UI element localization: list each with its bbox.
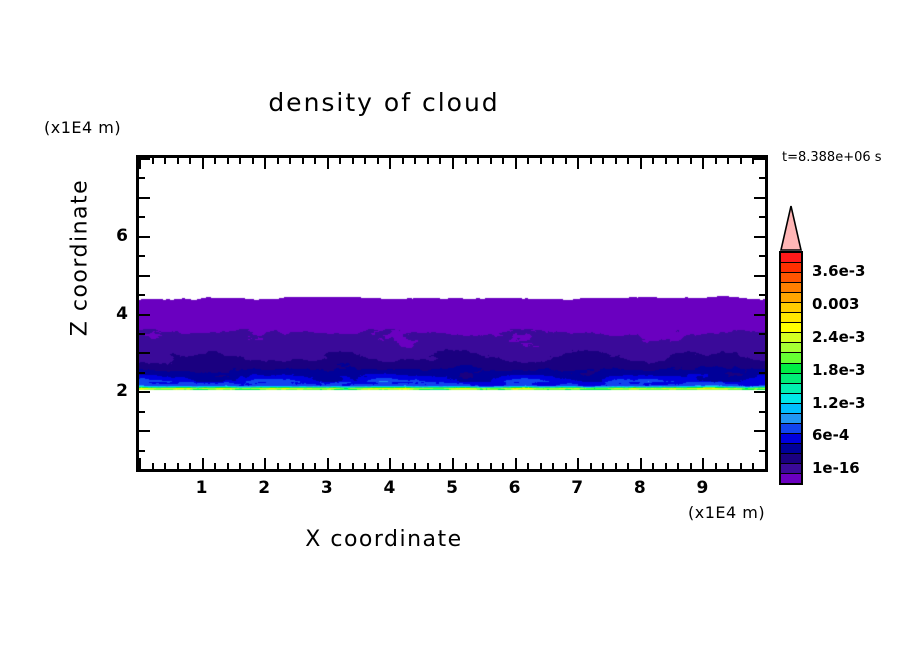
tick-mark [139, 216, 145, 218]
colorbar-band [781, 454, 801, 464]
colorbar-band [781, 283, 801, 293]
tick-mark [139, 255, 145, 257]
tick-mark [690, 463, 692, 469]
colorbar-band [781, 273, 801, 283]
tick-mark [754, 352, 765, 354]
colorbar-bands [779, 251, 803, 485]
tick-mark [677, 158, 679, 164]
tick-mark [202, 458, 204, 469]
y-axis-title: Z coordinate [68, 158, 93, 358]
tick-mark [665, 463, 667, 469]
colorbar-band [781, 464, 801, 474]
tick-mark [202, 158, 204, 169]
tick-mark [164, 158, 166, 164]
tick-mark [352, 463, 354, 469]
tick-mark [727, 158, 729, 164]
colorbar-tick-label: 3.6e-3 [812, 262, 865, 280]
tick-mark [402, 463, 404, 469]
tick-mark [527, 158, 529, 164]
tick-mark [139, 430, 150, 432]
tick-mark [652, 158, 654, 164]
tick-mark [402, 158, 404, 164]
colorbar-tick-label: 1.2e-3 [812, 394, 865, 412]
x-tick-label: 2 [258, 478, 270, 498]
tick-mark [754, 158, 765, 160]
tick-mark [754, 469, 765, 471]
colorbar-band [781, 353, 801, 363]
colorbar-tick-label: 2.4e-3 [812, 328, 865, 346]
tick-mark [289, 158, 291, 164]
tick-mark [389, 158, 391, 169]
colorbar-band [781, 394, 801, 404]
y-tick-label: 2 [110, 381, 128, 401]
tick-mark [640, 158, 642, 169]
tick-mark [339, 463, 341, 469]
tick-mark [759, 216, 765, 218]
tick-mark [264, 158, 266, 169]
tick-mark [352, 158, 354, 164]
tick-mark [552, 158, 554, 164]
tick-mark [189, 463, 191, 469]
tick-mark [227, 463, 229, 469]
tick-mark [627, 463, 629, 469]
tick-mark [759, 411, 765, 413]
tick-mark [577, 158, 579, 169]
tick-mark [552, 463, 554, 469]
tick-mark [765, 458, 767, 469]
tick-mark [139, 458, 141, 469]
tick-mark [740, 463, 742, 469]
tick-mark [754, 197, 765, 199]
colorbar-band [781, 424, 801, 434]
tick-mark [277, 158, 279, 164]
colorbar-band [781, 253, 801, 263]
tick-mark [189, 158, 191, 164]
x-axis-unit-label: (x1E4 m) [688, 503, 765, 522]
tick-mark [252, 158, 254, 164]
tick-mark [452, 158, 454, 169]
tick-mark [702, 158, 704, 169]
x-tick-label: 4 [383, 478, 395, 498]
tick-mark [239, 158, 241, 164]
tick-mark [759, 450, 765, 452]
tick-mark [252, 463, 254, 469]
tick-mark [177, 158, 179, 164]
tick-mark [139, 236, 150, 238]
y-tick-label: 4 [110, 304, 128, 324]
colorbar-band [781, 263, 801, 273]
tick-mark [452, 458, 454, 469]
colorbar-band [781, 414, 801, 424]
tick-mark [477, 463, 479, 469]
colorbar-band [781, 374, 801, 384]
tick-mark [139, 411, 145, 413]
tick-mark [327, 158, 329, 169]
tick-mark [759, 177, 765, 179]
colorbar-band [781, 303, 801, 313]
tick-mark [465, 463, 467, 469]
tick-mark [327, 458, 329, 469]
tick-mark [364, 158, 366, 164]
tick-mark [139, 197, 150, 199]
tick-mark [389, 458, 391, 469]
tick-mark [715, 463, 717, 469]
tick-mark [314, 158, 316, 164]
tick-mark [754, 275, 765, 277]
tick-mark [502, 158, 504, 164]
tick-mark [364, 463, 366, 469]
tick-mark [177, 463, 179, 469]
tick-mark [602, 463, 604, 469]
tick-mark [427, 463, 429, 469]
tick-mark [465, 158, 467, 164]
tick-mark [759, 372, 765, 374]
colorbar-band [781, 474, 801, 483]
plot-frame [136, 155, 768, 472]
tick-mark [477, 158, 479, 164]
tick-mark [615, 158, 617, 164]
x-tick-label: 9 [696, 478, 708, 498]
tick-mark [277, 463, 279, 469]
tick-mark [515, 458, 517, 469]
tick-mark [139, 450, 145, 452]
colorbar-tick-label: 6e-4 [812, 426, 849, 444]
colorbar-tick-label: 1e-16 [812, 459, 860, 477]
tick-mark [239, 463, 241, 469]
tick-mark [740, 158, 742, 164]
tick-mark [515, 158, 517, 169]
tick-mark [227, 158, 229, 164]
tick-mark [490, 463, 492, 469]
x-axis-title: X coordinate [0, 527, 768, 552]
tick-mark [759, 255, 765, 257]
tick-mark [302, 158, 304, 164]
colorbar-band [781, 343, 801, 353]
tick-mark [377, 158, 379, 164]
tick-mark [439, 463, 441, 469]
colorbar-tick-label: 1.8e-3 [812, 361, 865, 379]
tick-mark [627, 158, 629, 164]
tick-mark [139, 372, 145, 374]
tick-mark [139, 391, 150, 393]
colorbar-band [781, 434, 801, 444]
colorbar-tick-label: 0.003 [812, 295, 859, 313]
tick-mark [565, 463, 567, 469]
tick-mark [754, 430, 765, 432]
page-title: density of cloud [0, 88, 768, 117]
tick-mark [152, 463, 154, 469]
tick-mark [754, 314, 765, 316]
tick-mark [590, 158, 592, 164]
x-tick-label: 8 [634, 478, 646, 498]
tick-mark [759, 294, 765, 296]
tick-mark [565, 158, 567, 164]
tick-mark [139, 469, 150, 471]
tick-mark [690, 158, 692, 164]
x-tick-label: 3 [321, 478, 333, 498]
x-tick-label: 1 [196, 478, 208, 498]
tick-mark [765, 158, 767, 169]
tick-mark [377, 463, 379, 469]
colorbar-band [781, 293, 801, 303]
tick-mark [759, 333, 765, 335]
tick-mark [702, 458, 704, 469]
colorbar-band [781, 333, 801, 343]
tick-mark [590, 463, 592, 469]
tick-mark [527, 463, 529, 469]
y-axis-unit-label: (x1E4 m) [44, 118, 121, 137]
figure-root: density of cloud (x1E4 m) (x1E4 m) t=8.3… [0, 0, 904, 654]
tick-mark [540, 158, 542, 164]
tick-mark [414, 463, 416, 469]
colorbar-band [781, 313, 801, 323]
tick-mark [754, 236, 765, 238]
x-tick-label: 7 [571, 478, 583, 498]
tick-mark [339, 158, 341, 164]
colorbar-band [781, 444, 801, 454]
tick-mark [214, 158, 216, 164]
colorbar-arrow-icon [779, 205, 803, 251]
tick-mark [139, 275, 150, 277]
tick-mark [727, 463, 729, 469]
tick-mark [139, 352, 150, 354]
colorbar-band [781, 364, 801, 374]
tick-mark [439, 158, 441, 164]
density-field-canvas [139, 158, 765, 469]
tick-mark [427, 158, 429, 164]
tick-mark [139, 158, 150, 160]
tick-mark [314, 463, 316, 469]
colorbar-band [781, 404, 801, 414]
tick-mark [502, 463, 504, 469]
tick-mark [677, 463, 679, 469]
tick-mark [214, 463, 216, 469]
tick-mark [139, 294, 145, 296]
tick-mark [640, 458, 642, 469]
tick-mark [414, 158, 416, 164]
x-tick-label: 6 [509, 478, 521, 498]
timestamp-annotation: t=8.388e+06 s [782, 150, 882, 165]
tick-mark [665, 158, 667, 164]
tick-mark [264, 458, 266, 469]
tick-mark [652, 463, 654, 469]
colorbar-band [781, 384, 801, 394]
tick-mark [139, 314, 150, 316]
tick-mark [540, 463, 542, 469]
colorbar-band [781, 323, 801, 333]
tick-mark [490, 158, 492, 164]
tick-mark [715, 158, 717, 164]
tick-mark [152, 158, 154, 164]
x-tick-label: 5 [446, 478, 458, 498]
tick-mark [602, 158, 604, 164]
tick-mark [289, 463, 291, 469]
tick-mark [139, 333, 145, 335]
y-tick-label: 6 [110, 226, 128, 246]
tick-mark [302, 463, 304, 469]
tick-mark [754, 391, 765, 393]
tick-mark [615, 463, 617, 469]
colorbar [779, 205, 803, 485]
tick-mark [164, 463, 166, 469]
tick-mark [139, 177, 145, 179]
tick-mark [577, 458, 579, 469]
